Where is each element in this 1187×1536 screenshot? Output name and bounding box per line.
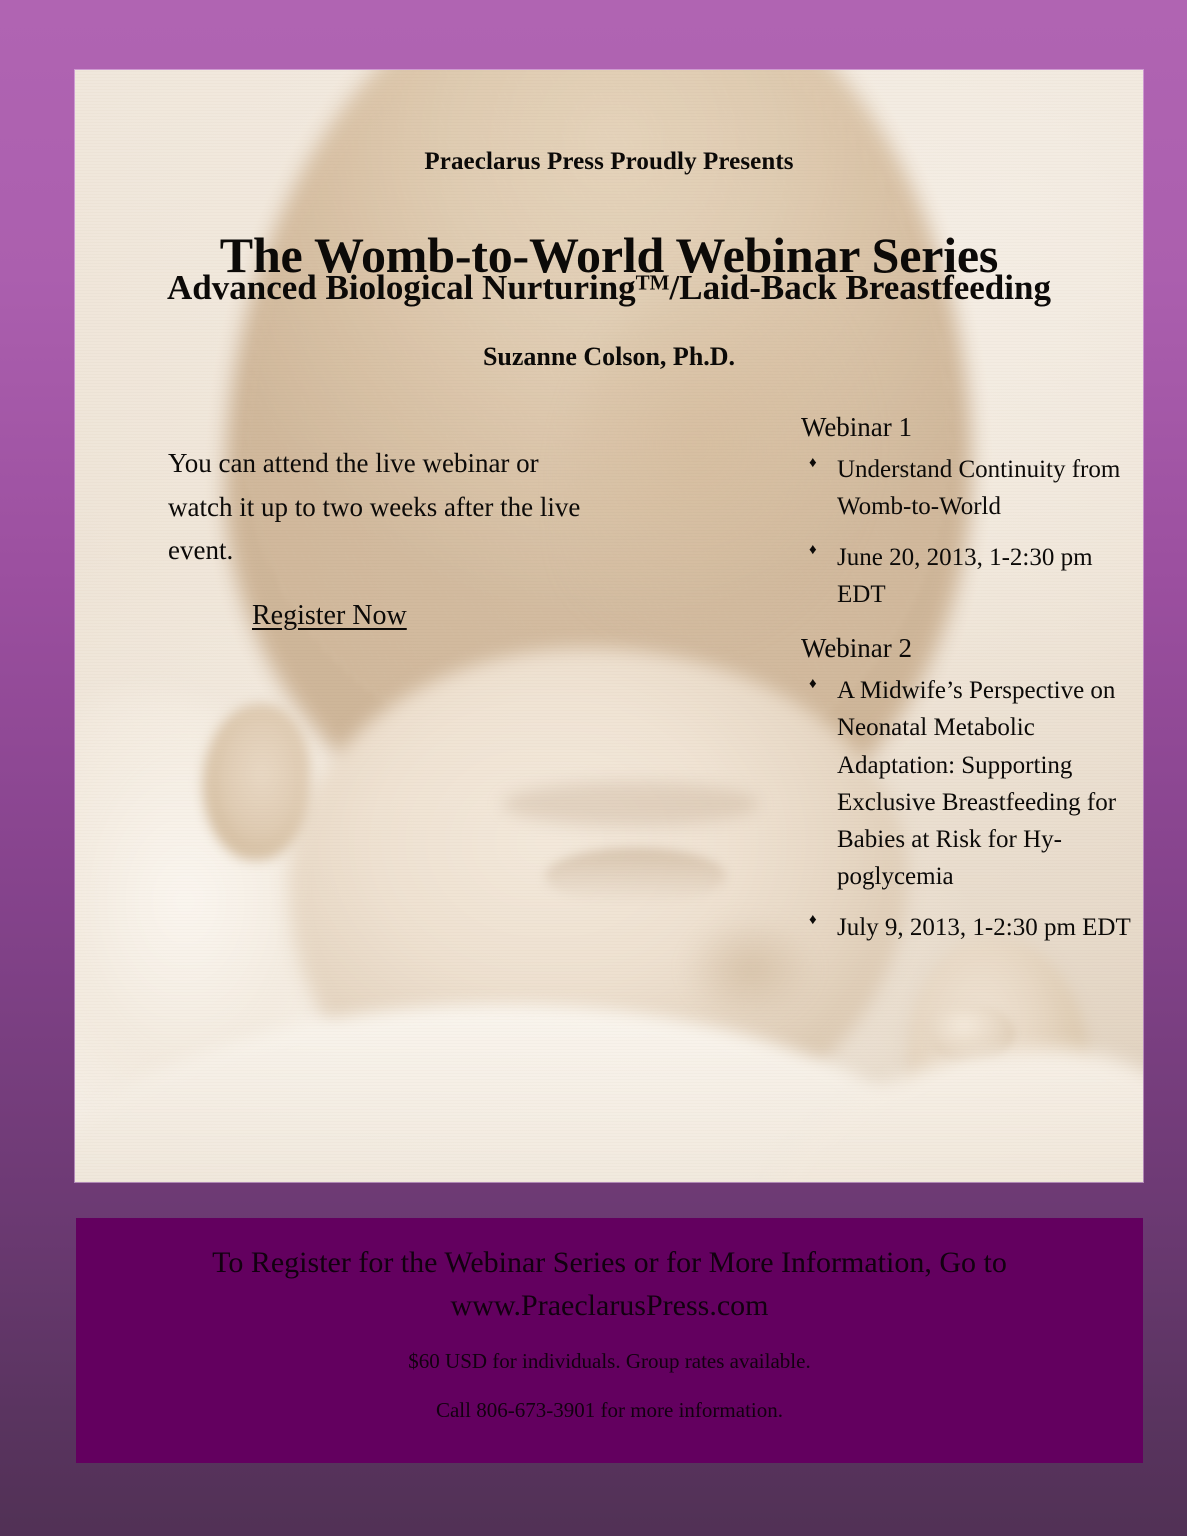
diamond-bullet-icon: ♦ <box>809 543 817 558</box>
right-column: Webinar 1 ♦ Understand Continuity from W… <box>801 410 1131 959</box>
flyer-content: Praeclarus Press Proudly Presents The Wo… <box>75 70 1143 1182</box>
register-wrapper: Register Now <box>168 600 588 632</box>
pricing-text: $60 USD for individuals. Group rates ava… <box>76 1349 1143 1374</box>
left-column: You can attend the live webinar or watch… <box>168 415 588 632</box>
speaker-name: Suzanne Colson, Ph.D. <box>75 342 1143 372</box>
presenter-line: Praeclarus Press Proudly Presents <box>75 148 1143 176</box>
website-url[interactable]: www.PraeclarusPress.com <box>76 1285 1143 1328</box>
webinar-2-bullets: ♦ A Midwife’s Perspective on Neonatal Me… <box>801 672 1131 946</box>
register-now-link[interactable]: Register Now <box>252 600 407 632</box>
list-item: ♦ A Midwife’s Perspective on Neonatal Me… <box>801 672 1131 896</box>
list-item-label: A Midwife’s Perspective on Neonatal Meta… <box>837 677 1116 890</box>
list-item: ♦ Understand Continuity from Womb-to-Wor… <box>801 451 1131 526</box>
list-item-label: July 9, 2013, 1-2:30 pm EDT <box>837 914 1131 941</box>
webinar-1-bullets: ♦ Understand Continuity from Womb-to-Wor… <box>801 451 1131 613</box>
baby-photo: Praeclarus Press Proudly Presents The Wo… <box>75 70 1143 1182</box>
registration-banner: To Register for the Webinar Series or fo… <box>76 1218 1143 1463</box>
list-item: ♦ July 9, 2013, 1-2:30 pm EDT <box>801 909 1131 946</box>
phone-text: Call 806-673-3901 for more information. <box>76 1398 1143 1423</box>
webinar-1-heading: Webinar 1 <box>801 410 1131 445</box>
diamond-bullet-icon: ♦ <box>809 456 817 471</box>
subtitle-rest: /Laid-Back Breastfeeding <box>670 268 1051 307</box>
list-item: ♦ June 20, 2013, 1-2:30 pm EDT <box>801 539 1131 614</box>
subtitle: Advanced Biological NurturingTM/Laid-Bac… <box>75 268 1143 308</box>
attendance-blurb: You can attend the live webinar or watch… <box>168 442 588 573</box>
diamond-bullet-icon: ♦ <box>809 913 817 928</box>
registration-instructions: To Register for the Webinar Series or fo… <box>76 1242 1143 1285</box>
flyer-page: Praeclarus Press Proudly Presents The Wo… <box>0 0 1187 1536</box>
diamond-bullet-icon: ♦ <box>809 677 817 692</box>
list-item-label: June 20, 2013, 1-2:30 pm EDT <box>837 544 1093 608</box>
webinar-2-heading: Webinar 2 <box>801 631 1131 666</box>
list-item-label: Understand Continuity from Womb-to-World <box>837 456 1120 520</box>
trademark-symbol: TM <box>636 271 670 295</box>
subtitle-main: Advanced Biological Nurturing <box>167 268 636 307</box>
